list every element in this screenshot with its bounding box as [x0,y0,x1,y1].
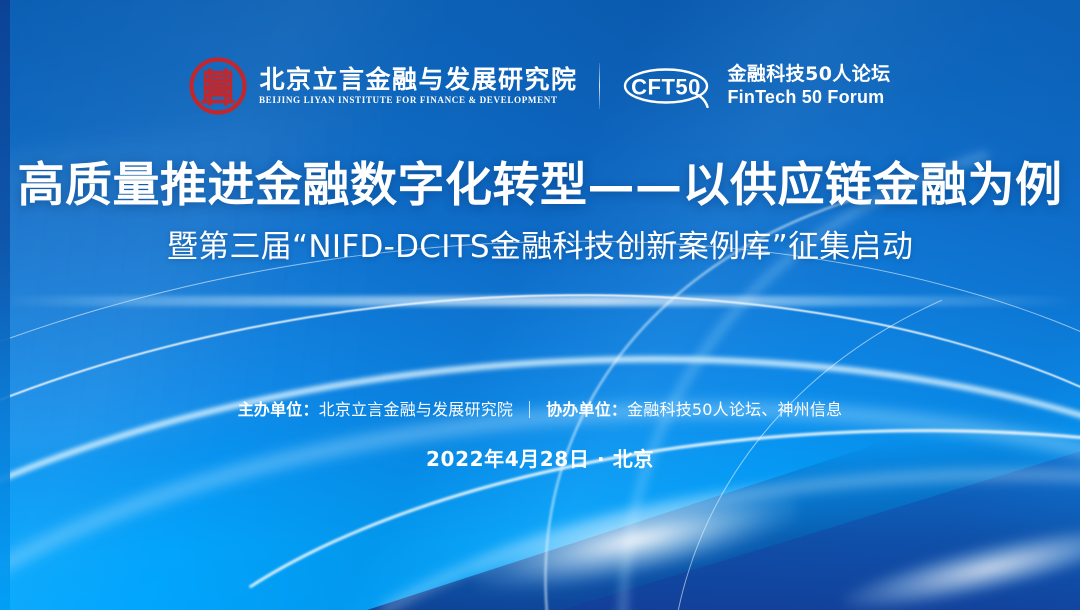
logo-divider [599,63,600,109]
cft50-name-en: FinTech 50 Forum [727,87,890,108]
cft50-name-cn: 金融科技50人论坛 [727,64,890,86]
svg-text:CFT50: CFT50 [632,75,702,100]
sub-title: 暨第三届“NIFD-DCITS金融科技创新案例库”征集启动 [0,229,1080,266]
cft50-mark-icon: CFT50 [622,64,714,108]
logo-row: 北京立言金融与发展研究院 BEIJING LIYAN INSTITUTE FOR… [0,52,1080,120]
liyan-name-block: 北京立言金融与发展研究院 BEIJING LIYAN INSTITUTE FOR… [259,67,577,104]
conference-banner: 北京立言金融与发展研究院 BEIJING LIYAN INSTITUTE FOR… [0,0,1080,610]
background-glow-hotspot-right [839,512,1080,610]
organizer-row: 主办单位：北京立言金融与发展研究院 协办单位：金融科技50人论坛、神州信息 [0,400,1080,419]
co-organizer: 协办单位：金融科技50人论坛、神州信息 [546,400,842,419]
date-location-text: 2022年4月28日 · 北京 [426,447,654,471]
cft50-name-block: 金融科技50人论坛 FinTech 50 Forum [727,64,890,108]
host-organizer-value: 北京立言金融与发展研究院 [319,400,513,419]
background-glow-hotspot [466,471,803,608]
co-organizer-label: 协办单位： [546,400,627,419]
liyan-seal-icon [189,57,247,115]
title-block: 高质量推进金融数字化转型——以供应链金融为例 暨第三届“NIFD-DCITS金融… [0,160,1080,266]
main-title: 高质量推进金融数字化转型——以供应链金融为例 [0,160,1080,213]
host-organizer: 主办单位：北京立言金融与发展研究院 [238,400,513,419]
host-organizer-label: 主办单位： [238,400,319,419]
liyan-institute-logo: 北京立言金融与发展研究院 BEIJING LIYAN INSTITUTE FOR… [189,57,577,115]
organizer-separator [529,401,530,418]
liyan-name-en: BEIJING LIYAN INSTITUTE FOR FINANCE & DE… [259,96,574,105]
liyan-name-cn: 北京立言金融与发展研究院 [259,67,577,93]
cft50-logo: CFT50 金融科技50人论坛 FinTech 50 Forum [622,64,890,108]
co-organizer-value: 金融科技50人论坛、神州信息 [627,400,842,419]
date-row: 2022年4月28日 · 北京 [0,443,1080,472]
